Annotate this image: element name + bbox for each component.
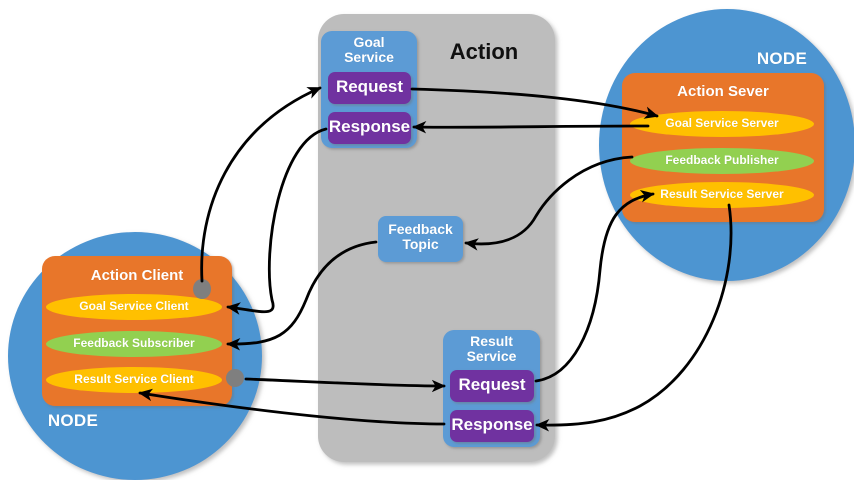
goal-service-response-slot[interactable] <box>328 112 411 144</box>
feedback-topic-block[interactable] <box>378 216 463 262</box>
interface-result-service-server[interactable] <box>630 182 814 208</box>
goal-service-request-slot[interactable] <box>328 72 411 104</box>
diagram-shapes <box>0 0 854 480</box>
connector-dot-goal-client <box>193 279 211 299</box>
result-service-request-slot[interactable] <box>450 370 534 402</box>
interface-feedback-publisher[interactable] <box>630 148 814 174</box>
connector-dot-result-client <box>226 369 244 387</box>
interface-result-service-client[interactable] <box>46 367 222 393</box>
interface-feedback-subscriber[interactable] <box>46 331 222 357</box>
interface-goal-service-client[interactable] <box>46 294 222 320</box>
interface-goal-service-server[interactable] <box>630 111 814 137</box>
diagram-canvas: Action NODE Action Sever Goal Service Se… <box>0 0 854 480</box>
result-service-response-slot[interactable] <box>450 410 534 442</box>
